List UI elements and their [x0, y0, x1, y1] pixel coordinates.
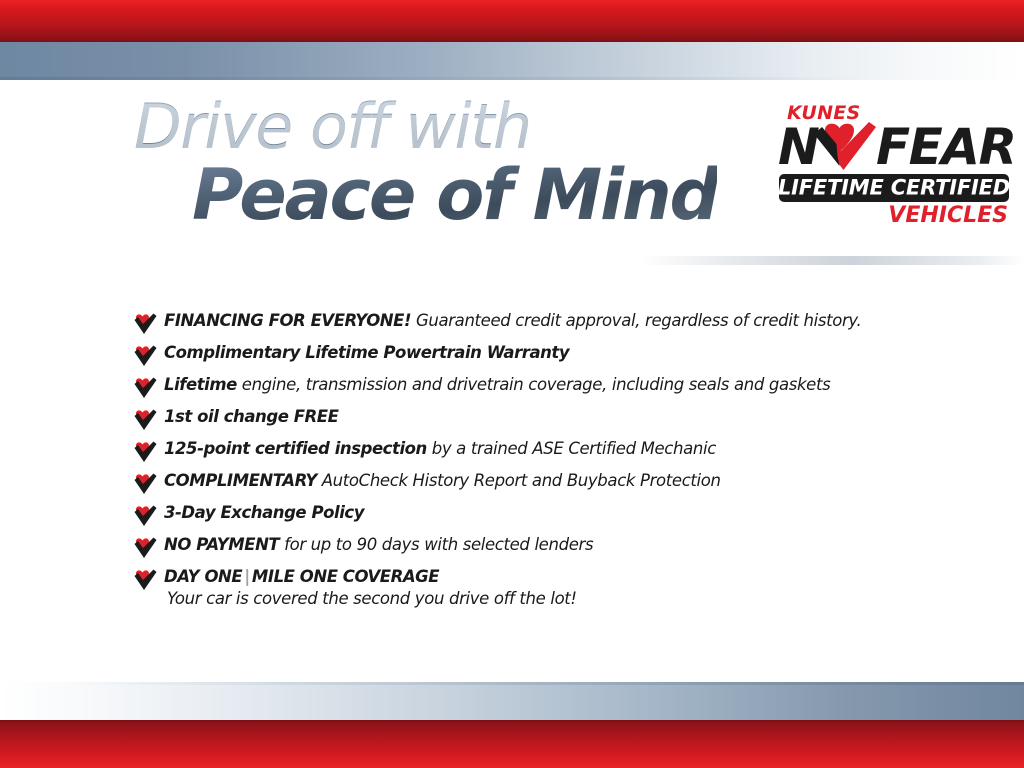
headline-line-1: Drive off with: [134, 96, 717, 158]
list-item-bold-2: MILE ONE COVERAGE: [252, 567, 439, 586]
list-item-rest: by a trained ASE Certified Mechanic: [427, 439, 716, 458]
list-item-text: 1st oil change FREE: [164, 407, 338, 426]
heart-check-icon: [812, 121, 878, 181]
list-item: 1st oil change FREE: [132, 406, 962, 438]
list-item-bold: Lifetime: [164, 375, 237, 394]
list-item-bold: 3-Day Exchange Policy: [164, 503, 364, 522]
benefits-list: FINANCING FOR EVERYONE! Guaranteed credi…: [132, 310, 962, 622]
list-item: Complimentary Lifetime Powertrain Warran…: [132, 342, 962, 374]
list-item: 3-Day Exchange Policy: [132, 502, 962, 534]
list-item-bold: 1st oil change FREE: [164, 407, 338, 426]
list-item-bold: Complimentary Lifetime Powertrain Warran…: [164, 343, 569, 362]
top-gray-band: [0, 42, 1024, 80]
list-item: NO PAYMENT for up to 90 days with select…: [132, 534, 962, 566]
page-title: Drive off with Peace of Mind: [134, 96, 717, 230]
bottom-red-band: [0, 720, 1024, 768]
list-item: Lifetime engine, transmission and drivet…: [132, 374, 962, 406]
heart-check-icon: [132, 409, 158, 431]
list-item-bold: COMPLIMENTARY: [164, 471, 317, 490]
list-item: DAY ONE|MILE ONE COVERAGE Your car is co…: [132, 566, 962, 622]
list-item-bold: NO PAYMENT: [164, 535, 279, 554]
top-red-band: [0, 0, 1024, 42]
logo-lifetime-certified-bar: LIFETIME CERTIFIED: [779, 174, 1009, 202]
list-item-text: DAY ONE|MILE ONE COVERAGE: [164, 567, 439, 586]
heart-check-icon: [132, 537, 158, 559]
logo-word-vehicles: VEHICLES: [888, 205, 1008, 227]
headline-line-2: Peace of Mind: [192, 160, 717, 230]
list-item-rest: for up to 90 days with selected lenders: [279, 535, 593, 554]
list-item-text: 3-Day Exchange Policy: [164, 503, 364, 522]
heart-check-icon: [132, 441, 158, 463]
header: Drive off with Peace of Mind KUNES N FEA…: [0, 80, 1024, 262]
list-item: FINANCING FOR EVERYONE! Guaranteed credi…: [132, 310, 962, 342]
list-item-text: Lifetime engine, transmission and drivet…: [164, 375, 830, 394]
list-item-text: COMPLIMENTARY AutoCheck History Report a…: [164, 471, 721, 490]
list-item-text: FINANCING FOR EVERYONE! Guaranteed credi…: [164, 311, 861, 330]
header-divider: [640, 256, 1024, 265]
list-item-text: 125-point certified inspection by a trai…: [164, 439, 716, 458]
list-item-text: NO PAYMENT for up to 90 days with select…: [164, 535, 593, 554]
heart-check-icon: [132, 569, 158, 591]
logo-no-fear-wordmark: N FEAR: [776, 122, 1012, 176]
logo-word-fear: FEAR: [876, 122, 1016, 172]
list-item: COMPLIMENTARY AutoCheck History Report a…: [132, 470, 962, 502]
list-item-text: Complimentary Lifetime Powertrain Warran…: [164, 343, 569, 362]
list-item-separator: |: [242, 567, 252, 586]
logo-lifetime-certified-text: LIFETIME CERTIFIED: [779, 178, 1009, 199]
list-item-bold: FINANCING FOR EVERYONE!: [164, 311, 411, 330]
heart-check-icon: [132, 313, 158, 335]
list-item-subtext: Your car is covered the second you drive…: [164, 588, 962, 610]
heart-check-icon: [132, 345, 158, 367]
list-item-rest: AutoCheck History Report and Buyback Pro…: [317, 471, 721, 490]
list-item: 125-point certified inspection by a trai…: [132, 438, 962, 470]
list-item-rest: Guaranteed credit approval, regardless o…: [411, 311, 861, 330]
heart-check-icon: [132, 505, 158, 527]
bottom-gray-band: [0, 682, 1024, 720]
heart-check-icon: [132, 377, 158, 399]
list-item-rest: engine, transmission and drivetrain cove…: [237, 375, 830, 394]
promo-banner: Drive off with Peace of Mind KUNES N FEA…: [0, 0, 1024, 768]
kunes-no-fear-logo: KUNES N FEAR LIFETIME CERTIFIED VEHICLES: [776, 104, 1012, 230]
heart-check-icon: [132, 473, 158, 495]
list-item-bold: DAY ONE: [164, 567, 242, 586]
list-item-bold: 125-point certified inspection: [164, 439, 427, 458]
